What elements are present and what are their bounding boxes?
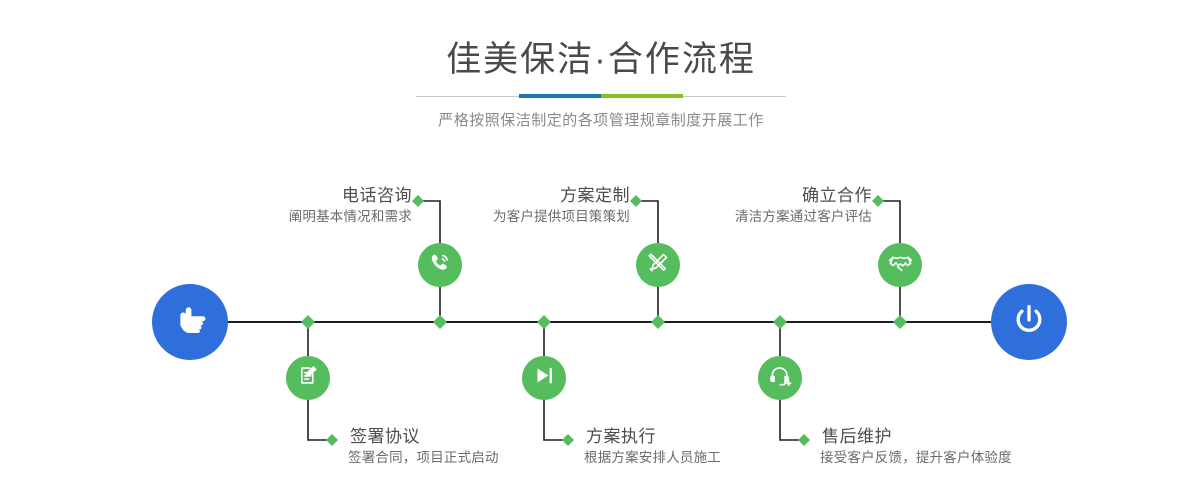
- step-node-3[interactable]: [636, 243, 680, 287]
- step-title-6: 售后维护: [820, 426, 1012, 448]
- phone-call-icon: [427, 250, 453, 281]
- callout-step-4: [544, 400, 566, 440]
- step-title-5: 确立合作: [735, 185, 872, 207]
- callout-step-1: [420, 201, 440, 243]
- step-node-5[interactable]: [878, 243, 922, 287]
- callout-diamond-markers: [326, 195, 884, 446]
- step-desc-5: 清洁方案通过客户评估: [735, 207, 872, 227]
- step-title-4: 方案执行: [584, 426, 721, 448]
- step-title-2: 签署协议: [348, 426, 499, 448]
- step-node-2[interactable]: [286, 356, 330, 400]
- headset-support-icon: [767, 363, 793, 394]
- callout-step-3: [638, 201, 658, 243]
- step-title-1: 电话咨询: [289, 185, 412, 207]
- step-node-6[interactable]: [758, 356, 802, 400]
- callout-step-5: [880, 201, 900, 243]
- step-label-2: 签署协议 签署合同，项目正式启动: [348, 426, 499, 468]
- pencil-ruler-icon: [645, 250, 671, 281]
- step-label-3: 方案定制 为客户提供项目策策划: [493, 185, 630, 227]
- end-endpoint[interactable]: [991, 284, 1067, 360]
- step-label-5: 确立合作 清洁方案通过客户评估: [735, 185, 872, 227]
- step-label-4: 方案执行 根据方案安排人员施工: [584, 426, 721, 468]
- step-label-6: 售后维护 接受客户反馈，提升客户体验度: [820, 426, 1012, 468]
- step-desc-3: 为客户提供项目策策划: [493, 207, 630, 227]
- start-endpoint[interactable]: [152, 284, 228, 360]
- step-desc-4: 根据方案安排人员施工: [584, 448, 721, 468]
- step-desc-2: 签署合同，项目正式启动: [348, 448, 499, 468]
- step-title-3: 方案定制: [493, 185, 630, 207]
- process-flow-infographic: 佳美保洁·合作流程 严格按照保洁制定的各项管理规章制度开展工作: [0, 0, 1202, 502]
- timeline-diagram: 电话咨询 阐明基本情况和需求 方案定制 为客户提供项目策策划 确立合作 清洁方案…: [0, 0, 1202, 502]
- callout-step-6: [780, 400, 802, 440]
- step-node-1[interactable]: [418, 243, 462, 287]
- step-desc-1: 阐明基本情况和需求: [289, 207, 412, 227]
- step-node-4[interactable]: [522, 356, 566, 400]
- step-desc-6: 接受客户反馈，提升客户体验度: [820, 448, 1012, 468]
- callout-step-2: [308, 400, 330, 440]
- handshake-icon: [887, 249, 914, 281]
- step-label-1: 电话咨询 阐明基本情况和需求: [289, 185, 412, 227]
- skip-forward-icon: [532, 363, 557, 393]
- power-icon: [1009, 300, 1049, 345]
- document-edit-icon: [296, 363, 321, 393]
- pointing-hand-icon: [169, 299, 211, 346]
